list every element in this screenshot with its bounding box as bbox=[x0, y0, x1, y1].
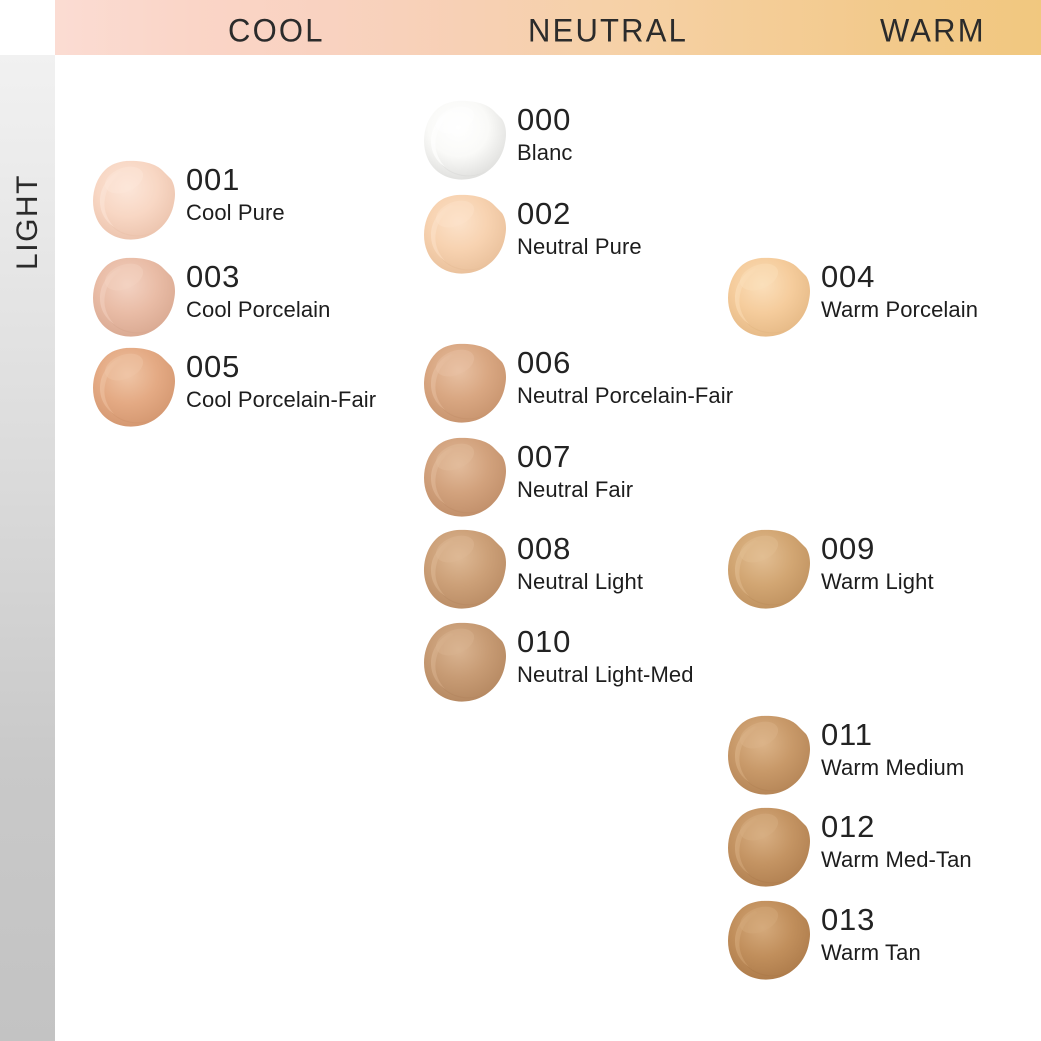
shade-text-block: 009Warm Light bbox=[821, 531, 934, 596]
column-header-warm: WARM bbox=[880, 12, 986, 50]
shade-swatch-icon bbox=[725, 527, 811, 613]
shade-name: Warm Porcelain bbox=[821, 295, 978, 324]
shade-text-block: 000Blanc bbox=[517, 102, 573, 167]
shade-swatch-icon bbox=[421, 341, 507, 427]
shade-name: Neutral Porcelain-Fair bbox=[517, 381, 733, 410]
shade-name: Warm Medium bbox=[821, 753, 964, 782]
column-header-neutral: NEUTRAL bbox=[528, 12, 688, 50]
shade-code: 010 bbox=[517, 624, 694, 660]
shade-code: 012 bbox=[821, 809, 972, 845]
shade-code: 006 bbox=[517, 345, 733, 381]
shade-code: 001 bbox=[186, 162, 285, 198]
shade-code: 013 bbox=[821, 902, 921, 938]
shade-text-block: 007Neutral Fair bbox=[517, 439, 633, 504]
shade-code: 007 bbox=[517, 439, 633, 475]
shade-text-block: 005Cool Porcelain-Fair bbox=[186, 349, 376, 414]
shade-code: 003 bbox=[186, 259, 330, 295]
header-corner-spacer bbox=[0, 0, 55, 55]
shade-text-block: 010Neutral Light-Med bbox=[517, 624, 694, 689]
shade-code: 011 bbox=[821, 717, 964, 753]
shade-swatch-icon bbox=[90, 255, 176, 341]
shade-swatch-icon bbox=[725, 255, 811, 341]
shade-swatch-icon bbox=[90, 345, 176, 431]
shade-swatch-icon bbox=[725, 805, 811, 891]
shade-name: Neutral Pure bbox=[517, 232, 642, 261]
shade-name: Cool Pure bbox=[186, 198, 285, 227]
shade-code: 009 bbox=[821, 531, 934, 567]
column-header-cool: COOL bbox=[228, 12, 325, 50]
undertone-header-band: COOL NEUTRAL WARM bbox=[55, 0, 1041, 55]
shade-text-block: 002Neutral Pure bbox=[517, 196, 642, 261]
shade-name: Blanc bbox=[517, 138, 573, 167]
shade-swatch-icon bbox=[725, 898, 811, 984]
shade-name: Cool Porcelain-Fair bbox=[186, 385, 376, 414]
foundation-shade-chart: COOL NEUTRAL WARM LIGHT 000Blanc001Cool … bbox=[0, 0, 1041, 1041]
shade-name: Neutral Fair bbox=[517, 475, 633, 504]
row-header-light: LIGHT bbox=[11, 142, 45, 302]
shade-text-block: 011Warm Medium bbox=[821, 717, 964, 782]
shade-name: Neutral Light bbox=[517, 567, 643, 596]
shade-text-block: 003Cool Porcelain bbox=[186, 259, 330, 324]
shade-text-block: 001Cool Pure bbox=[186, 162, 285, 227]
shade-text-block: 006Neutral Porcelain-Fair bbox=[517, 345, 733, 410]
shade-code: 002 bbox=[517, 196, 642, 232]
shade-name: Warm Tan bbox=[821, 938, 921, 967]
shade-text-block: 013Warm Tan bbox=[821, 902, 921, 967]
shade-text-block: 004Warm Porcelain bbox=[821, 259, 978, 324]
shade-name: Warm Med-Tan bbox=[821, 845, 972, 874]
shade-name: Neutral Light-Med bbox=[517, 660, 694, 689]
shade-code: 008 bbox=[517, 531, 643, 567]
shade-swatch-icon bbox=[421, 527, 507, 613]
depth-sidebar-band: LIGHT bbox=[0, 55, 55, 1041]
shade-swatch-icon bbox=[421, 192, 507, 278]
shade-swatch-icon bbox=[725, 713, 811, 799]
shade-name: Warm Light bbox=[821, 567, 934, 596]
shade-swatch-icon bbox=[421, 98, 507, 184]
shade-code: 004 bbox=[821, 259, 978, 295]
shade-text-block: 012Warm Med-Tan bbox=[821, 809, 972, 874]
shade-name: Cool Porcelain bbox=[186, 295, 330, 324]
shade-code: 005 bbox=[186, 349, 376, 385]
shade-swatch-icon bbox=[421, 620, 507, 706]
shade-swatch-icon bbox=[90, 158, 176, 244]
shade-text-block: 008Neutral Light bbox=[517, 531, 643, 596]
shade-swatch-icon bbox=[421, 435, 507, 521]
shade-code: 000 bbox=[517, 102, 573, 138]
